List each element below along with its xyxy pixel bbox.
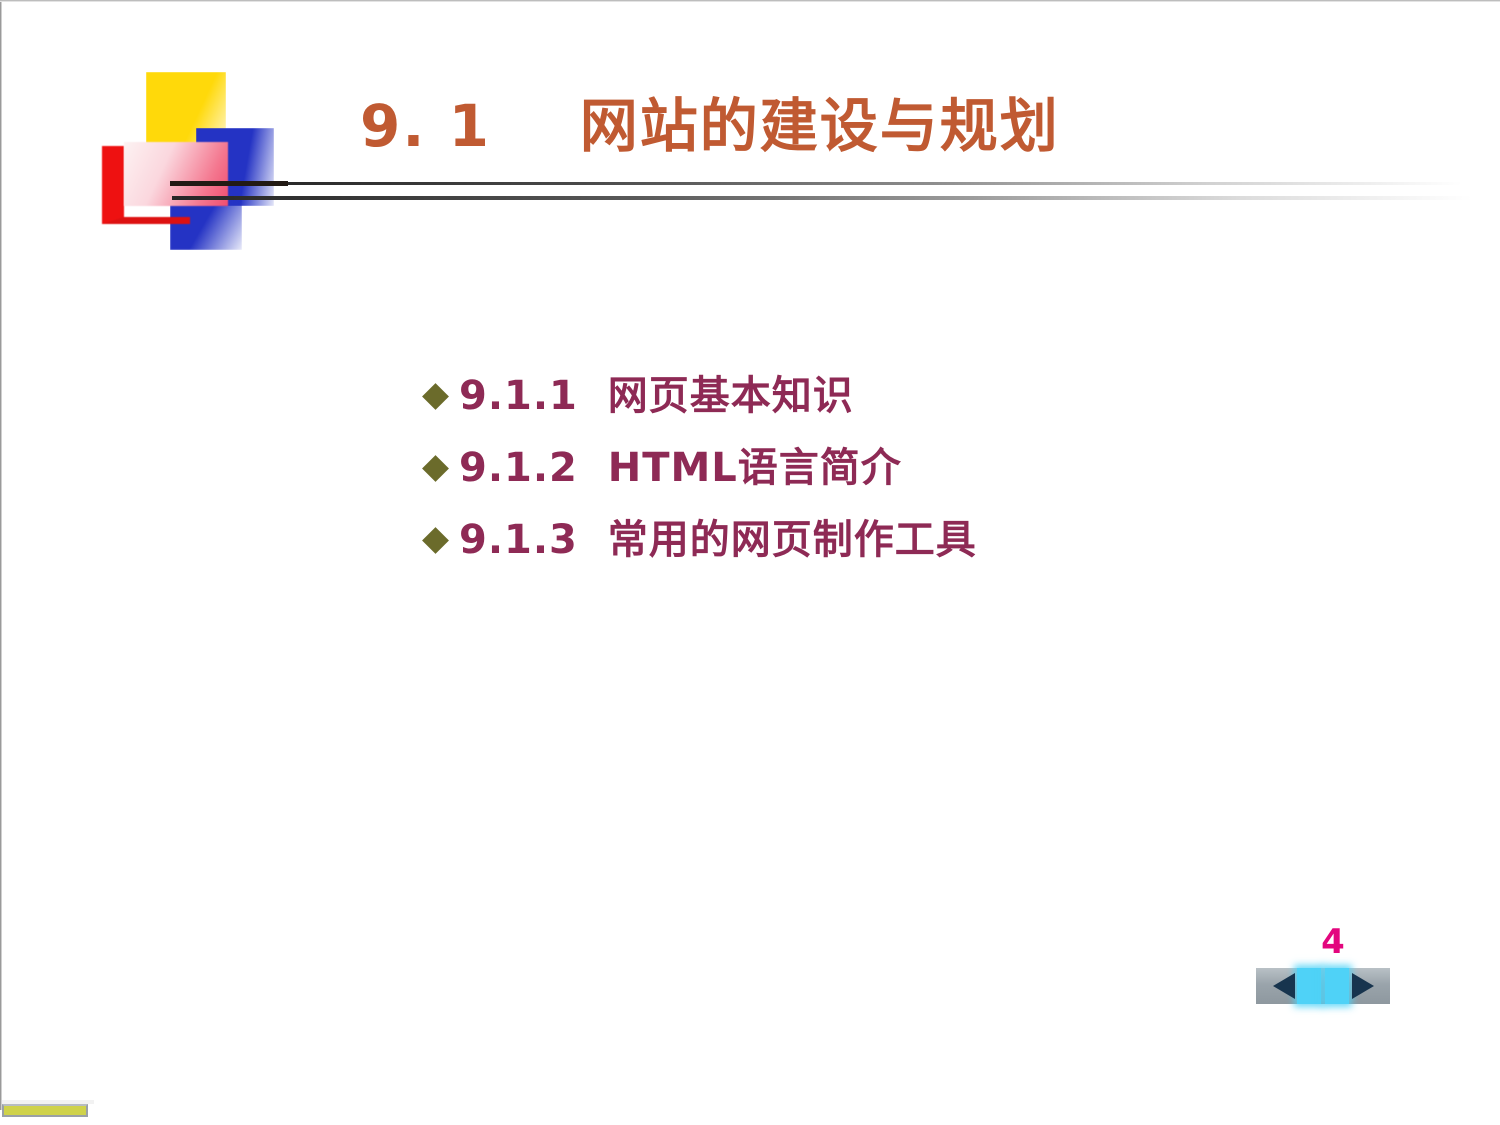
corner-status-bar	[2, 1104, 88, 1117]
triangle-left-icon	[1273, 973, 1295, 999]
slide-top-border	[0, 0, 1500, 2]
title-underline-accent-dash	[170, 181, 288, 186]
list-item: 9.1.1 网页基本知识	[424, 362, 1324, 430]
diamond-bullet-icon	[422, 527, 449, 554]
diamond-bullet-icon	[422, 383, 449, 410]
next-slide-button[interactable]	[1323, 968, 1390, 1004]
list-item-label: 9.1.1 网页基本知识	[459, 376, 854, 416]
decorative-squares-logo	[98, 58, 273, 248]
diamond-bullet-icon	[422, 455, 449, 482]
agenda-list: 9.1.1 网页基本知识 9.1.2 HTML语言简介 9.1.3 常用的网页制…	[424, 362, 1324, 578]
list-item-label: 9.1.3 常用的网页制作工具	[459, 520, 977, 560]
title-underline-secondary	[172, 196, 1482, 200]
title-underline-primary	[172, 182, 1482, 185]
slide-canvas: 9. 1 网站的建设与规划 9.1.1 网页基本知识 9.1.2 HTML语言简…	[0, 0, 1500, 1125]
previous-slide-button[interactable]	[1256, 968, 1323, 1004]
slide-navigation-bar	[1256, 968, 1390, 1004]
triangle-right-icon	[1352, 973, 1374, 999]
slide-left-border	[0, 0, 2, 1110]
title-block: 9. 1 网站的建设与规划	[360, 96, 1360, 157]
list-item: 9.1.2 HTML语言简介	[424, 434, 1324, 502]
list-item-label: 9.1.2 HTML语言简介	[459, 448, 902, 488]
page-number: 4	[1303, 925, 1363, 959]
page-title: 9. 1 网站的建设与规划	[360, 96, 1360, 157]
list-item: 9.1.3 常用的网页制作工具	[424, 506, 1324, 574]
